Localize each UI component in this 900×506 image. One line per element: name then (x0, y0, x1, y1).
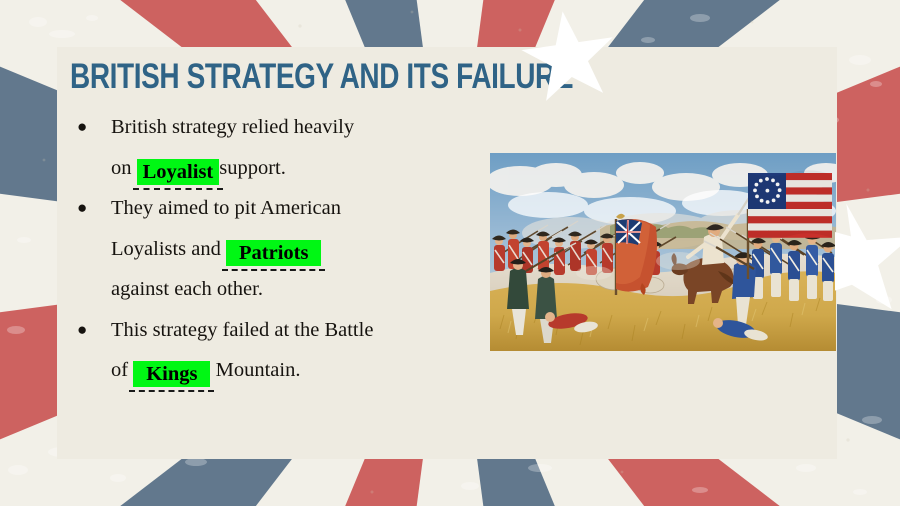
list-item: ● They aimed to pit American Loyalists a… (65, 188, 485, 310)
bullet-line: This strategy failed at the Battle (111, 310, 485, 351)
decorative-star-top-icon (521, 9, 617, 105)
bullet-list: ● British strategy relied heavily on Loy… (65, 107, 485, 391)
bullet-text: support. (219, 157, 286, 179)
bullet-text: Mountain. (216, 359, 301, 381)
decorative-star-right-icon (835, 202, 900, 310)
bullet-line: Loyalists and Patriots (111, 229, 485, 270)
bullet-marker-icon: ● (77, 107, 87, 148)
bullet-line: on Loyalistsupport. (111, 148, 485, 189)
slide-canvas: BRITISH STRATEGY AND ITS FAILURE ● Briti… (0, 0, 900, 506)
answer-blank-loyalist[interactable]: Loyalist (137, 159, 220, 185)
bullet-marker-icon: ● (77, 188, 87, 229)
bullet-marker-icon: ● (77, 310, 87, 351)
bullet-text: Loyalists and (111, 238, 221, 260)
battle-painting-image (490, 153, 836, 351)
list-item: ● This strategy failed at the Battle of … (65, 310, 485, 391)
bullet-line: They aimed to pit American (111, 188, 485, 229)
answer-blank-kings[interactable]: Kings (133, 361, 210, 387)
bullet-text: British strategy relied heavily (111, 116, 354, 138)
bullet-text: This strategy failed at the Battle (111, 319, 373, 341)
bullet-text: They aimed to pit American (111, 197, 341, 219)
bullet-line: against each other. (111, 269, 485, 310)
bullet-text: of (111, 359, 128, 381)
list-item: ● British strategy relied heavily on Loy… (65, 107, 485, 188)
bullet-text: against each other. (111, 278, 263, 300)
bullet-line: British strategy relied heavily (111, 107, 485, 148)
page-title: BRITISH STRATEGY AND ITS FAILURE (70, 57, 573, 97)
bullet-line: of Kings Mountain. (111, 350, 485, 391)
answer-blank-patriots[interactable]: Patriots (226, 240, 321, 266)
bullet-text: on (111, 157, 132, 179)
